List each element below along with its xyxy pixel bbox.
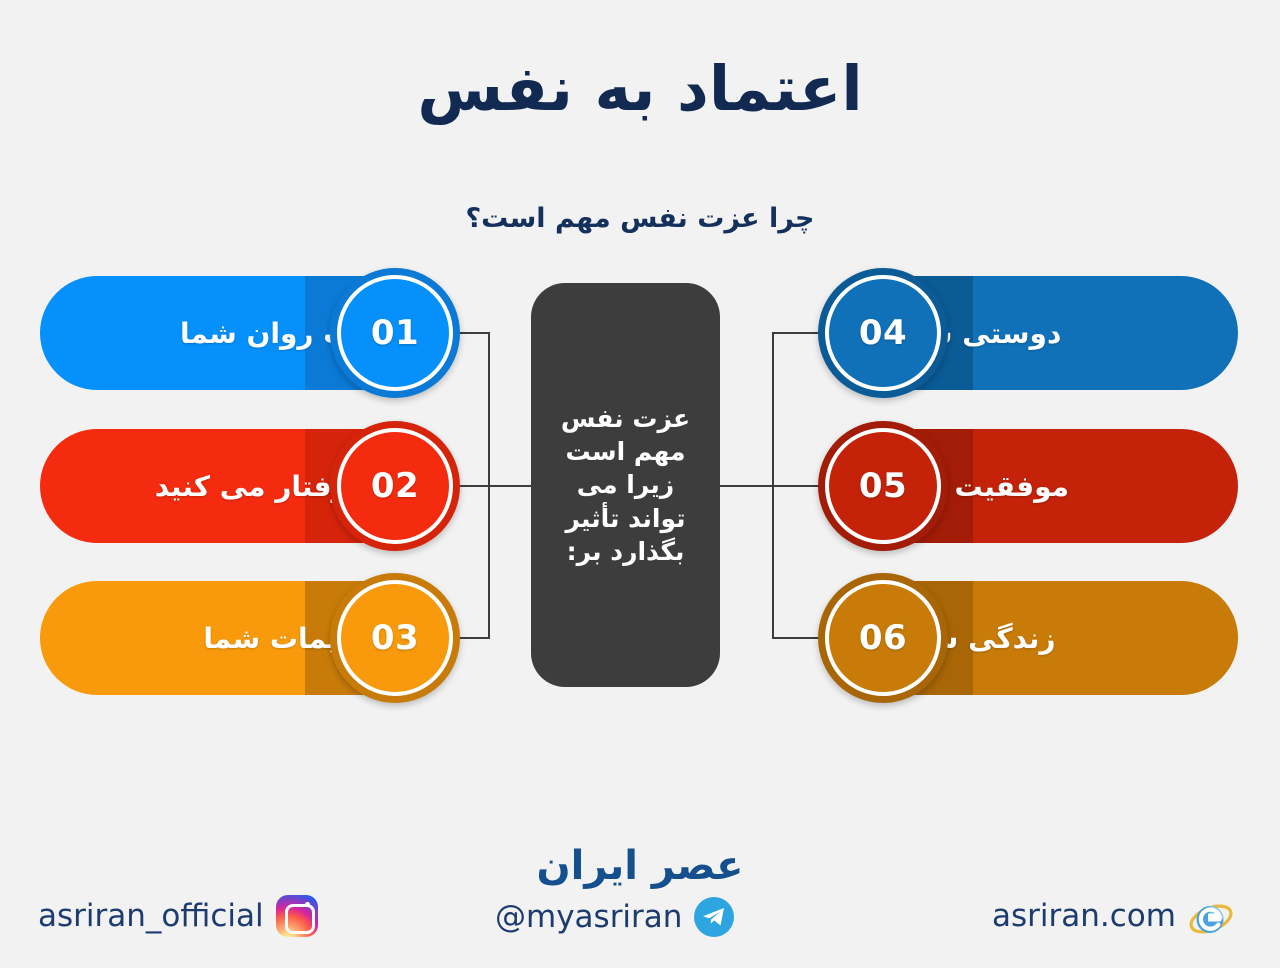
footer-website[interactable]: asriran.com — [992, 893, 1234, 939]
item-badge-inner-04: 04 — [825, 275, 941, 391]
infographic-canvas: اعتماد به نفس چرا عزت نفس مهم است؟ عزت ن… — [0, 0, 1280, 968]
item-row-03[interactable]: تصمیمات شما 03 — [40, 573, 460, 703]
footer-telegram[interactable]: @myasriran — [495, 897, 734, 937]
item-badge-inner-01: 01 — [337, 275, 453, 391]
page-title: اعتماد به نفس — [0, 52, 1280, 125]
center-statement-box: عزت نفس مهم است زیرا می تواند تأثیر بگذا… — [531, 283, 720, 687]
item-badge-inner-02: 02 — [337, 428, 453, 544]
footer-instagram[interactable]: asriran_official — [38, 895, 318, 937]
connector-right-stub-06 — [772, 637, 824, 639]
telegram-icon — [694, 897, 734, 937]
item-badge-inner-05: 05 — [825, 428, 941, 544]
item-badge-06[interactable]: 06 — [818, 573, 948, 703]
item-badge-04[interactable]: 04 — [818, 268, 948, 398]
connector-right-stub-04 — [772, 332, 824, 334]
connector-right-stub-05 — [718, 485, 824, 487]
item-badge-03[interactable]: 03 — [330, 573, 460, 703]
item-number-02: 02 — [371, 466, 419, 506]
telegram-handle: @myasriran — [495, 899, 682, 935]
item-badge-inner-03: 03 — [337, 580, 453, 696]
internet-explorer-icon — [1188, 893, 1234, 939]
item-number-01: 01 — [371, 313, 419, 353]
footer-brand-logo: عصر ایران — [0, 843, 1280, 889]
website-url: asriran.com — [992, 898, 1176, 934]
item-badge-inner-06: 06 — [825, 580, 941, 696]
item-badge-05[interactable]: 05 — [818, 421, 948, 551]
item-row-04[interactable]: دوستی شما 04 — [818, 268, 1238, 398]
item-row-05[interactable]: موفقیت شما 05 — [818, 421, 1238, 551]
item-number-05: 05 — [859, 466, 907, 506]
item-row-06[interactable]: زندگی شما 06 — [818, 573, 1238, 703]
item-row-01[interactable]: سلامت روان شما 01 — [40, 268, 460, 398]
item-badge-01[interactable]: 01 — [330, 268, 460, 398]
item-number-04: 04 — [859, 313, 907, 353]
center-statement-text: عزت نفس مهم است زیرا می تواند تأثیر بگذا… — [545, 402, 706, 568]
item-badge-02[interactable]: 02 — [330, 421, 460, 551]
item-number-06: 06 — [859, 618, 907, 658]
instagram-icon — [276, 895, 318, 937]
item-row-02[interactable]: چگونه رفتار می کنید 02 — [40, 421, 460, 551]
item-number-03: 03 — [371, 618, 419, 658]
page-subtitle: چرا عزت نفس مهم است؟ — [0, 203, 1280, 234]
instagram-handle: asriran_official — [38, 898, 264, 934]
